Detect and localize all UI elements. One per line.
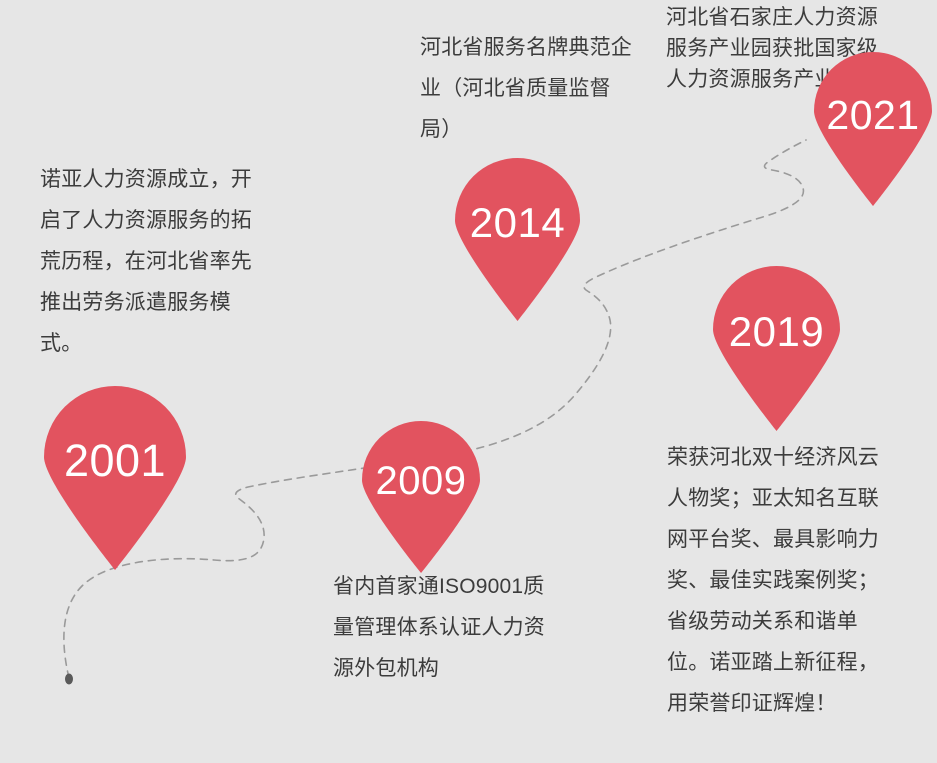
pin-year-label-2021: 2021 [814,92,932,139]
event-caption-2009: 省内首家通ISO9001质量管理体系认证人力资源外包机构 [333,566,563,689]
pin-year-label-2014: 2014 [455,199,580,247]
timeline-pin-2009[interactable]: 2009 [362,421,480,573]
timeline-pin-2014[interactable]: 2014 [455,158,580,321]
timeline-infographic: 诺亚人力资源成立，开启了人力资源服务的拓荒历程，在河北省率先推出劳务派遣服务模式… [0,0,937,763]
timeline-pin-2001[interactable]: 2001 [44,386,186,570]
timeline-path-start-dot [65,674,73,685]
timeline-pin-2021[interactable]: 2021 [814,52,932,206]
timeline-pin-2019[interactable]: 2019 [713,266,840,431]
pin-year-label-2019: 2019 [713,308,840,356]
event-caption-2014: 河北省服务名牌典范企业（河北省质量监督局） [420,27,638,150]
pin-year-label-2009: 2009 [362,459,480,504]
event-caption-2019: 荣获河北双十经济风云人物奖；亚太知名互联网平台奖、最具影响力奖、最佳实践案例奖；… [667,437,891,724]
pin-year-label-2001: 2001 [44,435,186,487]
event-caption-2001: 诺亚人力资源成立，开启了人力资源服务的拓荒历程，在河北省率先推出劳务派遣服务模式… [40,159,272,364]
